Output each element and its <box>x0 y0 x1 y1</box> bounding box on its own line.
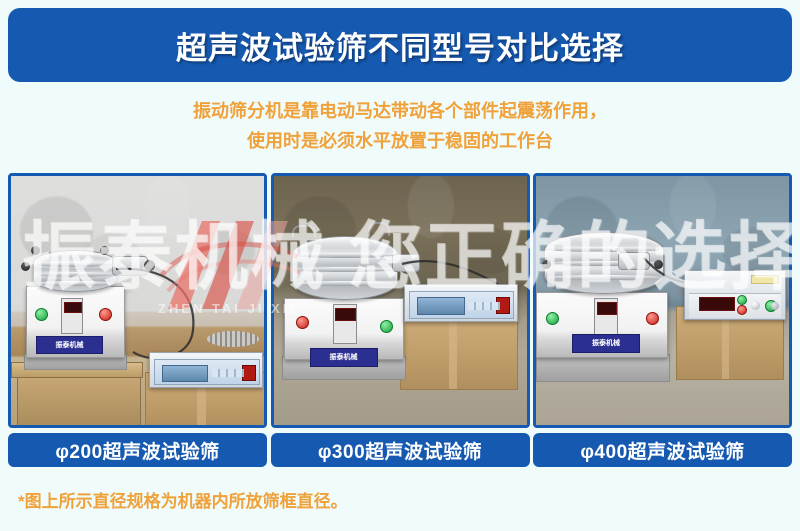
photo-1-clamp-knob-side <box>21 262 30 271</box>
photo-2-carton <box>400 318 518 390</box>
photo-3-stop-button[interactable] <box>646 312 659 325</box>
product-photo-3[interactable]: 振泰机械 <box>533 173 792 428</box>
photo-3-start-button[interactable] <box>546 312 559 325</box>
photo-2-drum-ring-3 <box>295 281 395 286</box>
product-photo-2[interactable]: 振泰机械 <box>271 173 530 428</box>
photo-1-drum-ring-1 <box>36 262 115 267</box>
photo-2-drum-ring-2 <box>295 267 395 272</box>
photo-2-brand-plate: 振泰机械 <box>310 348 378 367</box>
photo-1-drum-ring-2 <box>36 272 115 277</box>
photo-1-coiled-cable <box>207 331 259 347</box>
footnote-text: *图上所示直径规格为机器内所放筛框直径。 <box>18 487 348 512</box>
photo-2-lid-handle-right <box>368 222 390 236</box>
photo-1-sieve-drum <box>33 250 117 292</box>
photo-1-brand-plate: 振泰机械 <box>36 336 103 354</box>
photo-1-generator-switch[interactable] <box>242 365 256 381</box>
photo-2-ultrasonic-generator[interactable] <box>404 284 518 322</box>
photo-3-ultrasonic-generator[interactable] <box>684 270 786 320</box>
caption-bar-phi400[interactable]: φ400超声波试验筛 <box>533 433 792 467</box>
caption-bar-phi300[interactable]: φ300超声波试验筛 <box>271 433 530 467</box>
photo-3-machine-base <box>536 354 670 382</box>
photo-1-inverter-panel[interactable] <box>61 298 83 334</box>
photo-3-generator-dial-1[interactable] <box>751 301 760 310</box>
caption-bar-phi200[interactable]: φ200超声波试验筛 <box>8 433 267 467</box>
caption-bars: φ200超声波试验筛 φ300超声波试验筛 φ400超声波试验筛 <box>8 433 792 467</box>
photo-3-generator-green-1[interactable] <box>737 295 747 305</box>
product-photo-1[interactable]: 振泰机械 <box>8 173 267 428</box>
photo-3-generator-display <box>699 297 735 311</box>
header-banner: 超声波试验筛不同型号对比选择 <box>8 8 792 82</box>
photo-2-generator-display <box>417 297 465 315</box>
photo-1-ultrasonic-generator[interactable] <box>149 352 263 388</box>
photo-1-lcd-screen <box>64 302 83 314</box>
photo-2-stop-button[interactable] <box>296 316 309 329</box>
photo-1-stop-button[interactable] <box>99 308 112 321</box>
subtitle-block: 振动筛分机是靠电动马达带动各个部件起震荡作用， 使用时是必须水平放置于稳固的工作… <box>0 96 800 156</box>
photo-1-brand-text: 振泰机械 <box>56 342 84 349</box>
photo-3-lcd-screen <box>597 302 617 315</box>
product-gallery: 振泰机械 <box>8 173 792 428</box>
photo-3-inverter-panel[interactable] <box>594 298 618 338</box>
subtitle-line-2: 使用时是必须水平放置于稳固的工作台 <box>0 126 800 156</box>
subtitle-line-1: 振动筛分机是靠电动马达带动各个部件起震荡作用， <box>0 96 800 126</box>
photo-1-generator-display <box>162 365 208 382</box>
photo-2-inverter-panel[interactable] <box>333 304 357 344</box>
photo-3-brand-plate: 振泰机械 <box>572 334 640 353</box>
photo-1-start-button[interactable] <box>35 308 48 321</box>
photo-1-drum-ring-3 <box>36 281 115 286</box>
photo-1-clamp-knob-left <box>31 246 40 255</box>
photo-3-generator-label-strip <box>751 275 779 284</box>
photo-2-drum-ring-1 <box>295 253 395 258</box>
photo-2-brand-text: 振泰机械 <box>330 354 358 361</box>
photo-1-generator-keys[interactable] <box>212 369 244 377</box>
photo-2-generator-keys[interactable] <box>468 302 500 310</box>
photo-3-brand-text: 振泰机械 <box>592 340 620 347</box>
page-title: 超声波试验筛不同型号对比选择 <box>176 23 624 68</box>
photo-3-generator-red-1[interactable] <box>737 305 747 315</box>
photo-2-lcd-screen <box>335 308 355 321</box>
photo-2-sieve-drum <box>292 236 398 300</box>
photo-3-clamp-knob-left <box>542 260 551 269</box>
photo-3-generator-dial-2[interactable] <box>771 302 779 310</box>
photo-2-start-button[interactable] <box>380 320 393 333</box>
photo-1-wood-pallet <box>17 372 141 428</box>
photo-1-clamp-knob-right <box>100 246 109 255</box>
photo-2-lid-handle-left <box>292 225 316 237</box>
